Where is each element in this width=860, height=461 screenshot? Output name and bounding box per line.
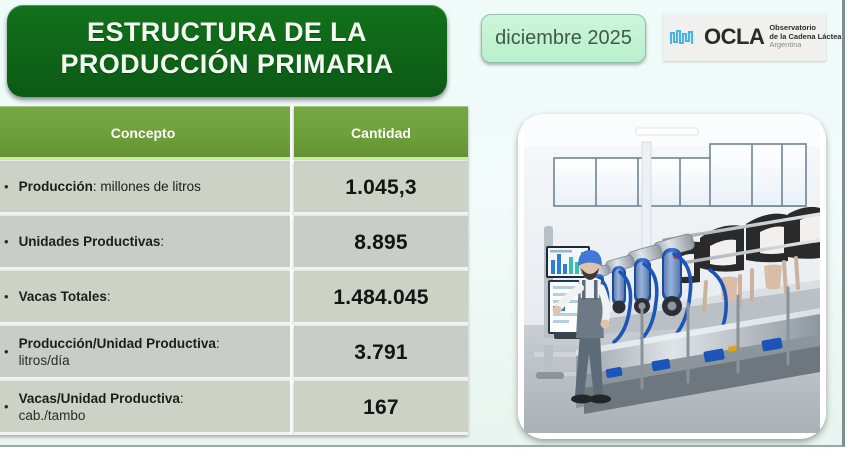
table-cell-concepto-bold: Vacas/Unidad Productiva [19, 391, 180, 406]
table-cell-concepto-line: Producción: millones de litros [19, 179, 201, 195]
table-cell-concepto: • Unidades Productivas: [0, 215, 294, 270]
table-cell-concepto-text: Producción/Unidad Productiva: litros/día [19, 336, 220, 369]
table-row: • Producción: millones de litros 1.045,3 [0, 160, 468, 215]
table-header-concepto-label: Concepto [0, 125, 290, 141]
table-cell-cantidad-value: 167 [363, 396, 399, 420]
page-title-line-2: PRODUCCIÓN PRIMARIA [60, 49, 393, 81]
table-header-cantidad-label: Cantidad [294, 125, 468, 141]
table-cell-concepto-line: Vacas Totales: [19, 289, 111, 305]
table-cell-concepto-rest: : [180, 391, 184, 406]
table-cell-concepto-rest: : [160, 234, 164, 249]
date-badge: diciembre 2025 [481, 14, 646, 63]
ocla-tagline-line-3: Argentina [769, 41, 841, 49]
table-cell-concepto-rest: : [107, 289, 111, 304]
table-cell-cantidad: 167 [294, 380, 468, 435]
bullet-icon: • [4, 180, 9, 193]
table-cell-cantidad-value: 3.791 [354, 341, 408, 365]
table-cell-concepto-sub: litros/día [19, 353, 220, 369]
bullet-icon: • [4, 400, 9, 413]
table-cell-concepto-line: Vacas/Unidad Productiva: [19, 391, 184, 407]
bullet-icon: • [4, 235, 9, 248]
date-badge-label: diciembre 2025 [495, 27, 632, 50]
table-row: • Producción/Unidad Productiva: litros/d… [0, 325, 468, 380]
table-cell-cantidad-value: 1.484.045 [333, 286, 428, 310]
table-cell-concepto: • Producción/Unidad Productiva: litros/d… [0, 325, 294, 380]
robotic-milking-parlor-photo [524, 120, 820, 433]
table-cell-cantidad-value: 1.045,3 [345, 176, 416, 200]
table-cell-concepto-bold: Producción/Unidad Productiva [19, 336, 216, 351]
table-cell-concepto: • Vacas/Unidad Productiva: cab./tambo [0, 380, 294, 435]
table-cell-concepto-line: Unidades Productivas: [19, 234, 165, 250]
waveform-icon [669, 26, 701, 48]
table-cell-concepto-bold: Unidades Productivas [19, 234, 161, 249]
table-header-row: Concepto Cantidad [0, 106, 468, 160]
page-title: ESTRUCTURA DE LA PRODUCCIÓN PRIMARIA [7, 5, 447, 97]
table-header-cantidad: Cantidad [294, 106, 468, 160]
table-cell-concepto-text: Vacas/Unidad Productiva: cab./tambo [19, 391, 184, 424]
table-row: • Vacas/Unidad Productiva: cab./tambo 16… [0, 380, 468, 435]
slide-canvas: ESTRUCTURA DE LA PRODUCCIÓN PRIMARIA dic… [0, 0, 845, 447]
table-cell-concepto-bold: Vacas Totales [19, 289, 107, 304]
table-row: • Vacas Totales: 1.484.045 [0, 270, 468, 325]
table-cell-concepto-text: Vacas Totales: [19, 289, 111, 305]
ocla-wordmark: OCLA [704, 26, 764, 48]
table-cell-concepto-text: Unidades Productivas: [19, 234, 165, 250]
structure-table: Concepto Cantidad • Producción: millones… [0, 106, 468, 435]
table-header-concepto: Concepto [0, 106, 294, 160]
bullet-icon: • [4, 345, 9, 358]
bullet-icon: • [4, 290, 9, 303]
table-cell-concepto: • Vacas Totales: [0, 270, 294, 325]
table-cell-concepto-sub: cab./tambo [19, 408, 184, 424]
table-row: • Unidades Productivas: 8.895 [0, 215, 468, 270]
table-cell-concepto-text: Producción: millones de litros [19, 179, 201, 195]
ocla-tagline: Observatorio de la Cadena Láctea Argenti… [769, 24, 841, 49]
table-cell-concepto-rest: : [216, 336, 220, 351]
table-cell-cantidad: 3.791 [294, 325, 468, 380]
table-cell-concepto: • Producción: millones de litros [0, 160, 294, 215]
table-cell-cantidad-value: 8.895 [354, 231, 408, 255]
table-cell-cantidad: 1.484.045 [294, 270, 468, 325]
table-cell-cantidad: 1.045,3 [294, 160, 468, 215]
page-title-line-1: ESTRUCTURA DE LA [87, 17, 367, 49]
table-cell-concepto-rest: : millones de litros [93, 179, 201, 194]
table-cell-concepto-bold: Producción [19, 179, 93, 194]
table-cell-cantidad: 8.895 [294, 215, 468, 270]
table-cell-concepto-line: Producción/Unidad Productiva: [19, 336, 220, 352]
photo-frame [518, 114, 826, 439]
ocla-logo: OCLA Observatorio de la Cadena Láctea Ar… [663, 13, 826, 61]
